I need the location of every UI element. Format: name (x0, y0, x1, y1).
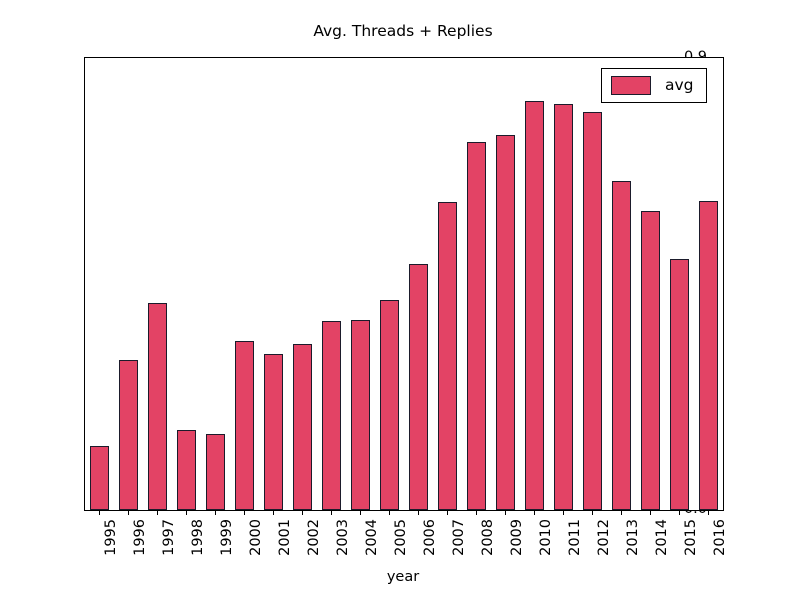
x-tick-label-1995: 1995 (104, 519, 119, 556)
x-tick-label-2012: 2012 (597, 519, 612, 556)
x-axis-title: year (84, 570, 722, 585)
x-tick-label-2002: 2002 (307, 519, 322, 556)
x-tick-label-2004: 2004 (365, 519, 380, 556)
chart-legend: avg (601, 68, 707, 103)
bar-2002[interactable] (293, 344, 312, 510)
x-tick-label-2000: 2000 (249, 519, 264, 556)
bar-2016[interactable] (699, 201, 718, 510)
chart-title: Avg. Threads + Replies (84, 24, 722, 40)
x-tick-label-2008: 2008 (481, 519, 496, 556)
x-tick-label-2016: 2016 (713, 519, 728, 556)
x-tick-label-2005: 2005 (394, 519, 409, 556)
bar-1997[interactable] (148, 303, 167, 510)
chart-figure: Avg. Threads + Replies 0.00.10.20.30.40.… (0, 0, 800, 600)
x-tick-label-2007: 2007 (452, 519, 467, 556)
x-tick-label-1997: 1997 (162, 519, 177, 556)
x-tick-label-2010: 2010 (539, 519, 554, 556)
bar-2003[interactable] (322, 321, 341, 510)
bar-2013[interactable] (612, 181, 631, 510)
bar-2014[interactable] (641, 211, 660, 510)
bar-2009[interactable] (496, 135, 515, 510)
x-tick-label-2013: 2013 (626, 519, 641, 556)
plot-area (85, 58, 723, 510)
bar-2012[interactable] (583, 112, 602, 510)
bar-1999[interactable] (206, 434, 225, 510)
x-tick-label-1999: 1999 (220, 519, 235, 556)
bar-1995[interactable] (90, 446, 109, 510)
legend-swatch-avg (611, 76, 651, 95)
bar-2011[interactable] (554, 104, 573, 510)
bar-2008[interactable] (467, 142, 486, 510)
bar-2001[interactable] (264, 354, 283, 510)
x-tick-label-2011: 2011 (568, 519, 583, 556)
bar-2007[interactable] (438, 202, 457, 510)
x-tick-label-2001: 2001 (278, 519, 293, 556)
x-tick-label-2006: 2006 (423, 519, 438, 556)
x-tick-label-2014: 2014 (655, 519, 670, 556)
x-tick-label-2015: 2015 (684, 519, 699, 556)
plot-frame (84, 57, 724, 511)
x-tick-label-1998: 1998 (191, 519, 206, 556)
bar-2015[interactable] (670, 259, 689, 510)
x-tick-label-2003: 2003 (336, 519, 351, 556)
x-tick-label-2009: 2009 (510, 519, 525, 556)
bar-2006[interactable] (409, 264, 428, 510)
bar-1996[interactable] (119, 360, 138, 510)
bar-2010[interactable] (525, 101, 544, 510)
bar-1998[interactable] (177, 430, 196, 510)
bar-2004[interactable] (351, 320, 370, 510)
legend-label-avg: avg (665, 78, 694, 94)
x-tick-label-1996: 1996 (133, 519, 148, 556)
bar-2000[interactable] (235, 341, 254, 510)
bar-2005[interactable] (380, 300, 399, 510)
